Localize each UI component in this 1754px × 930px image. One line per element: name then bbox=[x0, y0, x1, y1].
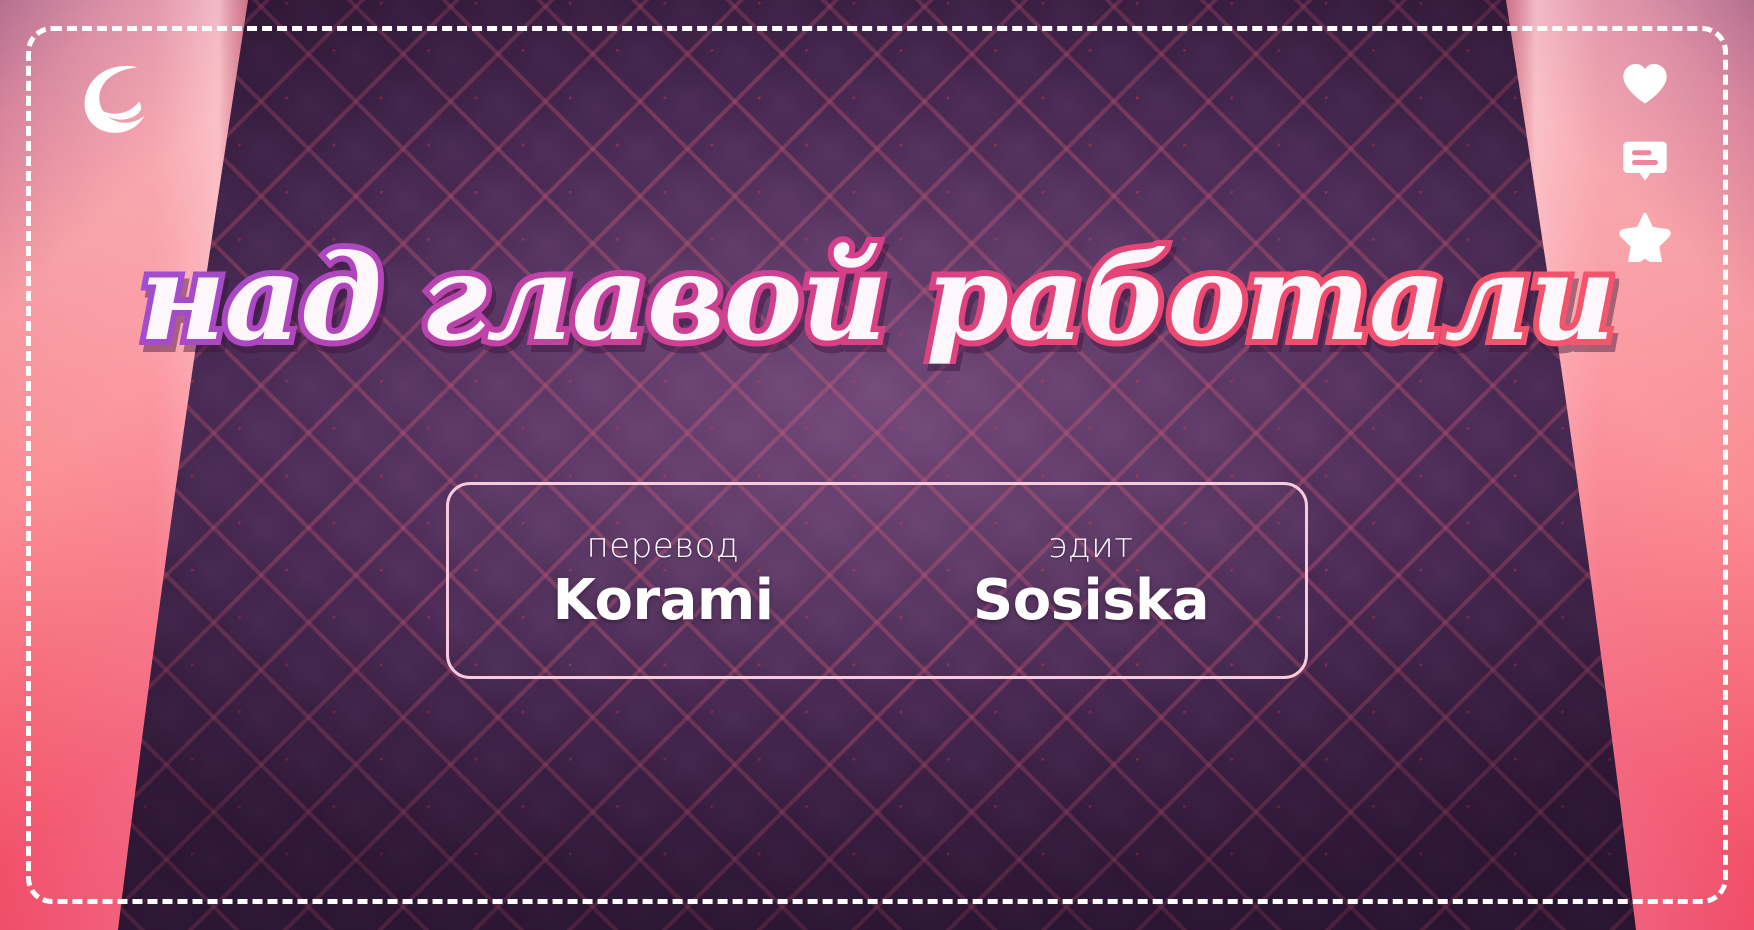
credit-entry-edit: эдит Sosiska bbox=[877, 528, 1305, 632]
credit-role-label: перевод bbox=[459, 528, 867, 565]
star-icon bbox=[1619, 210, 1671, 262]
credit-role-label: эдит bbox=[887, 528, 1295, 565]
curtain-left bbox=[0, 0, 330, 930]
credits-slide: над главой работали над главой работали … bbox=[0, 0, 1754, 930]
slide-title: над главой работали над главой работали bbox=[139, 232, 1614, 364]
like-button[interactable] bbox=[1619, 58, 1671, 110]
credits-box: перевод Korami эдит Sosiska bbox=[446, 482, 1308, 679]
comment-bubble-icon bbox=[1619, 134, 1671, 186]
credit-entry-translation: перевод Korami bbox=[449, 528, 877, 632]
comment-button[interactable] bbox=[1619, 134, 1671, 186]
crescent-moon-logo[interactable] bbox=[72, 58, 150, 136]
crescent-moon-icon bbox=[72, 58, 150, 136]
social-icon-rail bbox=[1614, 58, 1676, 262]
heart-icon bbox=[1619, 58, 1671, 110]
slide-title-text: над главой работали bbox=[139, 228, 1614, 367]
favorite-button[interactable] bbox=[1619, 210, 1671, 262]
curtain-right bbox=[1424, 0, 1754, 930]
title-block: над главой работали над главой работали bbox=[0, 232, 1754, 364]
credit-person-name: Korami bbox=[459, 570, 867, 633]
credit-person-name: Sosiska bbox=[887, 570, 1295, 633]
